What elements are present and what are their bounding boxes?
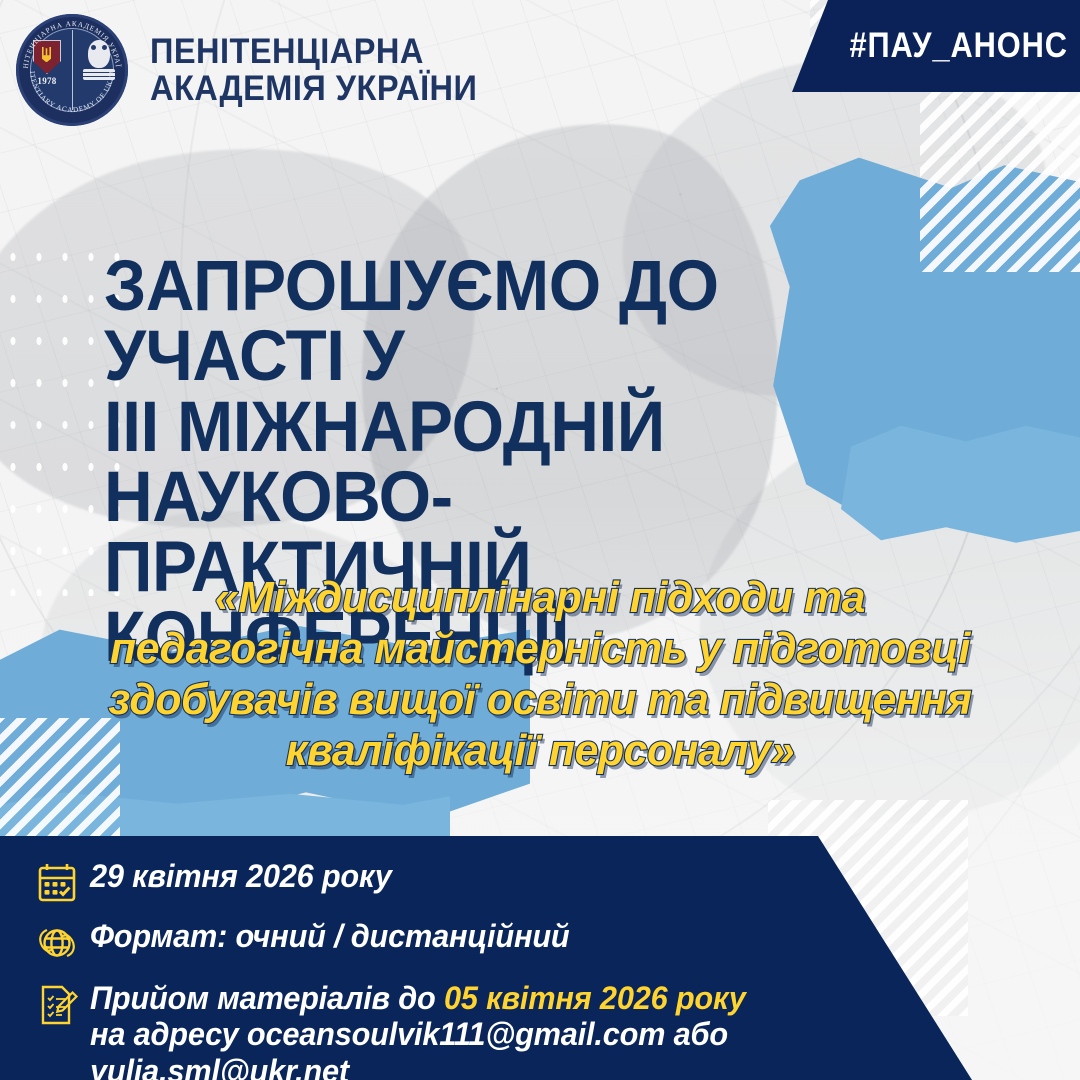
conference-theme-subtitle: «Міждисциплінарні підходи та педагогічна… [55, 572, 1025, 776]
submission-conjunction: або [665, 1016, 728, 1052]
email-secondary[interactable]: yulia.sml@ukr.net [90, 1053, 349, 1080]
calendar-icon [24, 858, 90, 906]
submission-prefix: Прийом матеріалів до [90, 980, 444, 1016]
emblem-bottom-text: PENITENTIARY ACADEMY OF UKRAINE [16, 14, 116, 114]
detail-submission-text: Прийом матеріалів до 05 квітня 2026 року… [90, 980, 746, 1080]
conference-announcement-poster: 1978 · ПЕНІТЕНЦІАРНА АКАДЕМІЯ УКРАЇНИ · … [0, 0, 1080, 1080]
globe-icon [24, 918, 90, 966]
detail-row-date: 29 квітня 2026 року [0, 858, 1080, 906]
document-pencil-icon [24, 980, 90, 1028]
hashtag-banner: #ПАУ_АНОНС [780, 0, 1080, 92]
detail-format-text: Формат: очний / дистанційний [90, 918, 569, 954]
submission-address-prefix: на адресу [90, 1016, 247, 1052]
emblem-top-text: · ПЕНІТЕНЦІАРНА АКАДЕМІЯ УКРАЇНИ · [16, 14, 123, 69]
submission-deadline: 05 квітня 2026 року [444, 980, 746, 1016]
detail-date-text: 29 квітня 2026 року [90, 858, 392, 894]
organization-name: ПЕНІТЕНЦІАРНА АКАДЕМІЯ УКРАЇНИ [150, 33, 477, 107]
detail-row-submission: Прийом матеріалів до 05 квітня 2026 року… [0, 980, 1080, 1080]
detail-row-format: Формат: очний / дистанційний [0, 918, 1080, 966]
email-primary[interactable]: oceansoulvik111@gmail.com [247, 1016, 665, 1052]
academy-emblem-logo: 1978 · ПЕНІТЕНЦІАРНА АКАДЕМІЯ УКРАЇНИ · … [16, 14, 128, 126]
emblem-ring-text: · ПЕНІТЕНЦІАРНА АКАДЕМІЯ УКРАЇНИ · PENIT… [16, 14, 128, 126]
hashtag-label: #ПАУ_АНОНС [849, 26, 1080, 66]
details-list: 29 квітня 2026 року Формат: очний / дист… [0, 836, 1080, 1080]
